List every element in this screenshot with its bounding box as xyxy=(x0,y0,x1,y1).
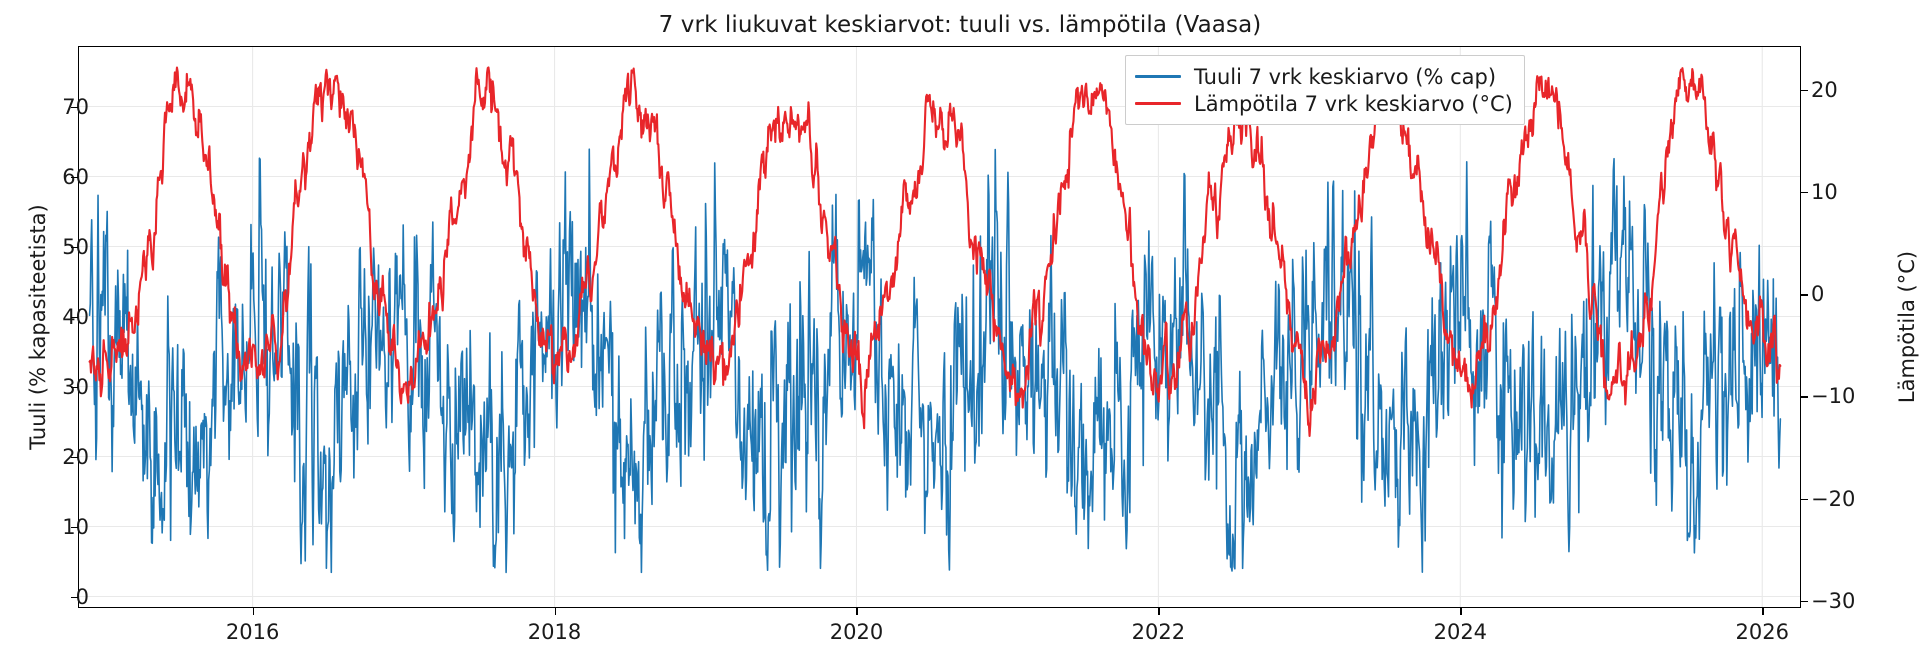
y-axis-right-tick-label: 0 xyxy=(1811,282,1824,306)
x-axis-tick-label: 2022 xyxy=(1132,620,1185,644)
figure-canvas: 7 vrk liukuvat keskiarvot: tuuli vs. läm… xyxy=(0,0,1920,672)
y-axis-right-tick-mark xyxy=(1801,294,1808,295)
y-axis-left-tick-mark xyxy=(71,317,78,318)
y-axis-right-tick-mark xyxy=(1801,90,1808,91)
legend-label-temperature: Lämpötila 7 vrk keskiarvo (°C) xyxy=(1194,92,1513,116)
y-axis-right-tick-label: 20 xyxy=(1811,78,1838,102)
legend-label-wind: Tuuli 7 vrk keskiarvo (% cap) xyxy=(1194,65,1496,89)
x-axis-tick-mark xyxy=(1460,608,1461,615)
y-axis-right-tick-label: 10 xyxy=(1811,180,1838,204)
x-axis-tick-mark xyxy=(1762,608,1763,615)
y-axis-left-label: Tuuli (% kapasiteetista) xyxy=(26,46,50,608)
x-axis-tick-mark xyxy=(856,608,857,615)
y-axis-right-label: Lämpötila (°C) xyxy=(1895,46,1919,608)
y-axis-left-tick-mark xyxy=(71,457,78,458)
x-axis-tick-mark xyxy=(555,608,556,615)
legend-swatch-temperature xyxy=(1135,102,1181,105)
chart-legend: Tuuli 7 vrk keskiarvo (% cap) Lämpötila … xyxy=(1125,55,1525,125)
x-axis-tick-label: 2018 xyxy=(528,620,581,644)
legend-item-temperature: Lämpötila 7 vrk keskiarvo (°C) xyxy=(1135,90,1513,117)
y-axis-left-tick-mark xyxy=(71,387,78,388)
y-axis-right-tick-mark xyxy=(1801,601,1808,602)
y-axis-left-tick-mark xyxy=(71,527,78,528)
series-line-wind xyxy=(90,149,1781,572)
plot-svg xyxy=(79,47,1800,607)
y-axis-right-tick-label: −20 xyxy=(1811,487,1855,511)
x-axis-tick-label: 2020 xyxy=(830,620,883,644)
y-axis-right-tick-mark xyxy=(1801,192,1808,193)
x-axis-tick-label: 2026 xyxy=(1736,620,1789,644)
y-axis-right-tick-mark xyxy=(1801,396,1808,397)
legend-item-wind: Tuuli 7 vrk keskiarvo (% cap) xyxy=(1135,63,1513,90)
chart-title: 7 vrk liukuvat keskiarvot: tuuli vs. läm… xyxy=(0,12,1920,38)
y-axis-right-tick-mark xyxy=(1801,499,1808,500)
y-axis-left-tick-mark xyxy=(71,597,78,598)
y-axis-left-tick-mark xyxy=(71,177,78,178)
x-axis-tick-mark xyxy=(1158,608,1159,615)
x-axis-tick-label: 2016 xyxy=(226,620,279,644)
y-axis-right-tick-label: −10 xyxy=(1811,384,1855,408)
legend-swatch-wind xyxy=(1135,75,1181,78)
y-axis-left-tick-mark xyxy=(71,247,78,248)
y-axis-left-tick-mark xyxy=(71,107,78,108)
x-axis-tick-mark xyxy=(253,608,254,615)
y-axis-right-tick-label: −30 xyxy=(1811,589,1855,613)
x-axis-tick-label: 2024 xyxy=(1434,620,1487,644)
plot-area xyxy=(78,46,1801,608)
